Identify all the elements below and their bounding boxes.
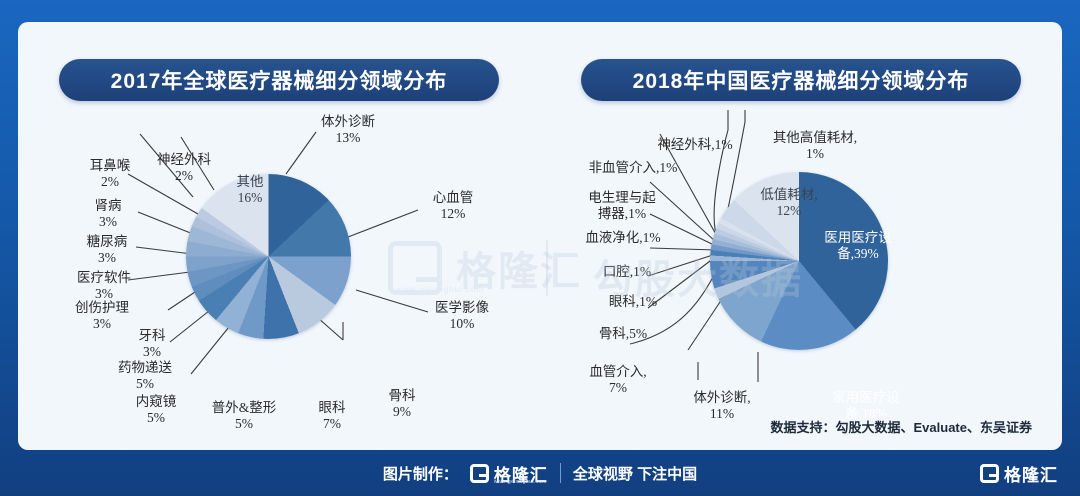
content-card: 2017年全球医疗器械细分领域分布 [18, 22, 1062, 450]
label-medical-imaging: 医学影像 10% [422, 300, 502, 333]
label-orthopedics: 骨科 9% [376, 388, 428, 421]
watermark-url: www.gelonghui.com [396, 285, 484, 294]
footer-right-logo: 格隆汇 [980, 461, 1058, 486]
label-ent: 耳鼻喉 2% [80, 158, 140, 191]
label-neurosurgery-cn: 神经外科,1% [640, 137, 750, 153]
chart-title-global-2017: 2017年全球医疗器械细分领域分布 [59, 59, 499, 101]
footer-divider [560, 463, 561, 483]
label-other: 其他 16% [220, 174, 280, 207]
footer-made-by-label: 图片制作： [383, 463, 458, 484]
footer-center: 图片制作： 格隆汇 www.gelonghui.com 全球视野 下注中国 [0, 461, 1080, 486]
gelonghui-mark-icon [980, 464, 999, 483]
chart-panel-global-2017: 2017年全球医疗器械细分领域分布 [18, 22, 540, 450]
footer-brand-url: www.gelonghui.com [494, 479, 547, 485]
footer-right-brand: 格隆汇 [980, 461, 1058, 486]
source-note: 数据支持：勾股大数据、Evaluate、东吴证券 [771, 417, 1032, 436]
label-diabetes: 糖尿病 3% [76, 234, 138, 267]
label-ivd-cn: 体外诊断, 11% [678, 390, 766, 423]
label-cardiovascular: 心血管 12% [420, 190, 486, 223]
label-general-plastic-surgery: 普外&整形 5% [198, 400, 290, 433]
footer-brand-logo: 格隆汇 www.gelonghui.com [470, 461, 548, 486]
label-other-high-value-consumables: 其他高值耗材, 1% [756, 130, 874, 163]
label-low-value-consumables: 低值耗材, 12% [746, 187, 832, 220]
footer-bar: 图片制作： 格隆汇 www.gelonghui.com 全球视野 下注中国 格隆… [0, 450, 1080, 496]
chart-panel-china-2018: 2018年中国医疗器械细分领域分布 神经外科,1% [540, 22, 1062, 450]
label-vascular-intervention: 血管介入, 7% [572, 364, 664, 397]
label-dental: 牙科 3% [126, 328, 178, 361]
label-nonvascular-intervention: 非血管介入,1% [574, 160, 692, 176]
label-ophthalmology: 眼科 7% [306, 400, 358, 433]
gelonghui-mark-icon [470, 464, 489, 483]
label-drug-delivery: 药物递送 5% [108, 360, 182, 393]
label-neurosurgery: 神经外科 2% [146, 152, 222, 185]
label-endoscope: 内窥镜 5% [123, 394, 189, 427]
label-kidney-disease: 肾病 3% [80, 198, 136, 231]
footer-slogan: 全球视野 下注中国 [573, 463, 697, 484]
label-hospital-medical-equipment: 医用医疗设 备,39% [808, 230, 908, 263]
label-medical-software: 医疗软件 3% [66, 270, 142, 303]
label-electrophysiology-pacemaker: 电生理与起 搏器,1% [570, 190, 674, 223]
label-ivd: 体外诊断 13% [308, 114, 388, 147]
label-orthopedics-cn: 骨科,5% [582, 326, 664, 342]
footer-right-brand-name: 格隆汇 [1004, 461, 1058, 486]
watermark-divider [546, 240, 548, 296]
watermark-secondary: 勾股大数据 [593, 247, 803, 305]
poster-canvas: 2017年全球医疗器械细分领域分布 [0, 0, 1080, 496]
chart-title-china-2018: 2018年中国医疗器械细分领域分布 [581, 59, 1021, 101]
